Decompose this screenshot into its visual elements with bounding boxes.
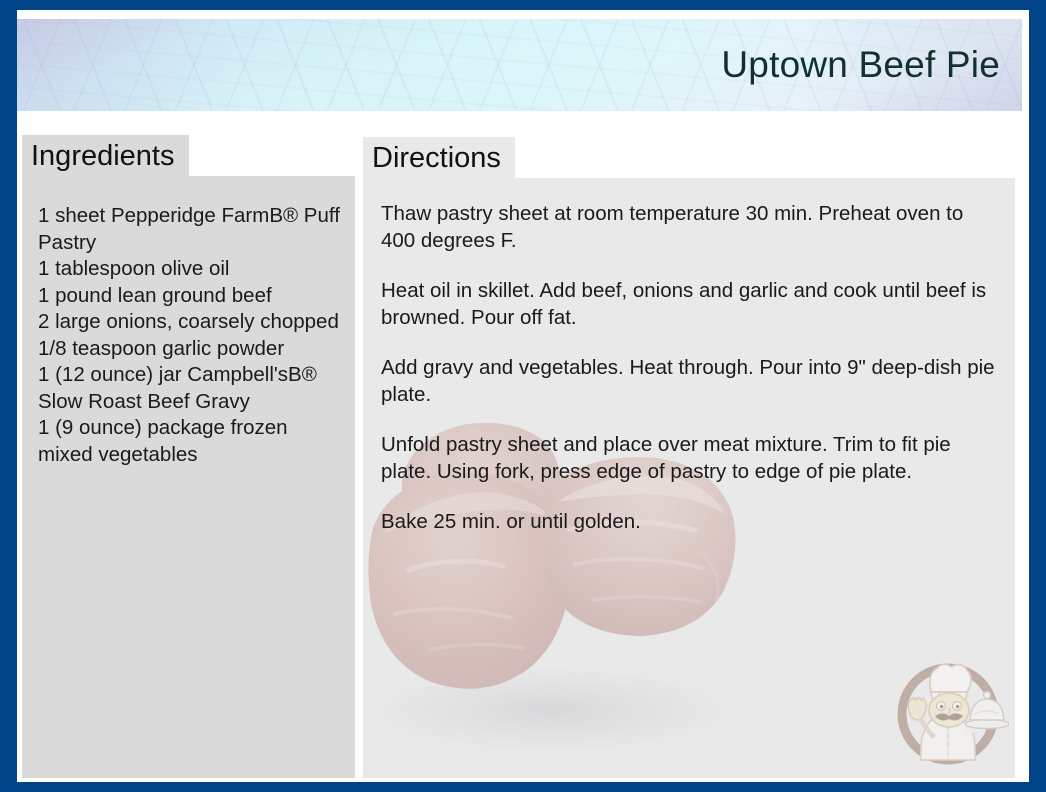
- ingredient-item: 1 (12 ounce) jar Campbell'sB® Slow Roast…: [38, 362, 347, 415]
- ingredients-panel: 1 sheet Pepperidge FarmB® Puff Pastry 1 …: [22, 176, 355, 778]
- direction-step: Unfold pastry sheet and place over meat …: [381, 431, 1001, 485]
- ingredients-list: 1 sheet Pepperidge FarmB® Puff Pastry 1 …: [22, 176, 355, 468]
- direction-step: Thaw pastry sheet at room temperature 30…: [381, 200, 1001, 254]
- ingredient-item: 1/8 teaspoon garlic powder: [38, 336, 347, 363]
- section-header-ingredients: Ingredients: [22, 135, 189, 177]
- ingredient-item: 1 sheet Pepperidge FarmB® Puff Pastry: [38, 203, 347, 256]
- direction-step: Heat oil in skillet. Add beef, onions an…: [381, 277, 1001, 331]
- page-title: Uptown Beef Pie: [721, 44, 1000, 86]
- section-header-directions: Directions: [363, 137, 515, 179]
- recipe-card: Uptown Beef Pie Ingredients Directions 1…: [0, 0, 1046, 792]
- ingredient-item: 1 (9 ounce) package frozen mixed vegetab…: [38, 415, 347, 468]
- ingredient-item: 1 pound lean ground beef: [38, 283, 347, 310]
- recipe-page: Uptown Beef Pie Ingredients Directions 1…: [17, 10, 1029, 782]
- ingredient-item: 2 large onions, coarsely chopped: [38, 309, 347, 336]
- header-banner: Uptown Beef Pie: [17, 19, 1022, 111]
- chef-logo-icon: [887, 648, 1009, 770]
- directions-steps: Thaw pastry sheet at room temperature 30…: [363, 178, 1015, 535]
- directions-panel: Thaw pastry sheet at room temperature 30…: [363, 178, 1015, 778]
- ingredient-item: 1 tablespoon olive oil: [38, 256, 347, 283]
- direction-step: Add gravy and vegetables. Heat through. …: [381, 354, 1001, 408]
- direction-step: Bake 25 min. or until golden.: [381, 508, 1001, 535]
